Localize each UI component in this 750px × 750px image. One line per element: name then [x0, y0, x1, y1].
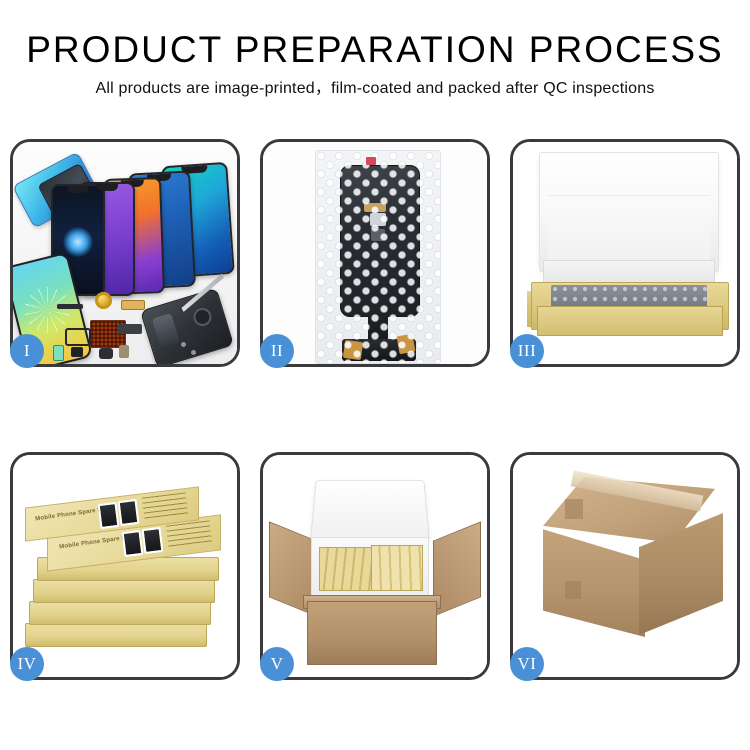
step-2-photo [263, 142, 487, 364]
stacked-box-5 [29, 601, 211, 625]
process-step-panel-1: I [10, 139, 240, 367]
step-badge-2: II [260, 334, 294, 368]
step-5-photo [263, 455, 487, 677]
box-phone-image-1b [118, 499, 140, 526]
tape-edge-icon-2 [565, 581, 581, 599]
process-step-panel-2: II [260, 139, 490, 367]
process-steps-grid: I II [10, 139, 740, 680]
earpiece-speaker-icon [57, 304, 83, 309]
screw-icon-1 [181, 342, 186, 347]
red-label-icon [366, 157, 376, 165]
step-badge-5: V [260, 647, 294, 681]
process-step-panel-6: VI [510, 452, 740, 680]
yellow-box-front-icon [537, 306, 723, 336]
stacked-box-4 [33, 579, 215, 603]
page-title: PRODUCT PREPARATION PROCESS [0, 28, 750, 72]
tape-edge-icon-1 [565, 499, 583, 519]
box-phone-image-1a [98, 502, 120, 529]
box-stack-icon: Mobile Phone Spare Parts Mobile Phone Sp… [19, 473, 237, 669]
bubble-texture-icon [316, 151, 440, 363]
step-badge-3: III [510, 334, 544, 368]
step-3-photo [513, 142, 737, 364]
small-part-icon-3 [119, 345, 129, 358]
bubble-wrap-bag-icon [315, 150, 441, 364]
flex-cable-icon-2 [121, 300, 145, 310]
screw-icon-2 [191, 350, 196, 355]
step-badge-6: VI [510, 647, 544, 681]
sim-tray-icon [53, 345, 64, 361]
vibration-coil-icon [95, 292, 112, 309]
small-part-icon-2 [99, 348, 113, 359]
page-header: PRODUCT PREPARATION PROCESS All products… [0, 28, 750, 100]
process-step-panel-4: Mobile Phone Spare Parts Mobile Phone Sp… [10, 452, 240, 680]
foam-lid-open-icon [310, 480, 430, 541]
flex-cable-icon-3 [118, 324, 142, 334]
box-phone-image-2a [122, 530, 144, 557]
foam-lid-icon [539, 152, 719, 272]
product-preparation-process-page: PRODUCT PREPARATION PROCESS All products… [0, 0, 750, 750]
stacked-box-6 [25, 623, 207, 647]
box-phone-image-2b [142, 527, 164, 554]
step-badge-4: IV [10, 647, 44, 681]
process-step-panel-3: III [510, 139, 740, 367]
step-6-photo [513, 455, 737, 677]
process-step-panel-5: V [260, 452, 490, 680]
flex-cable-icon-1 [65, 328, 91, 346]
step-badge-1: I [10, 334, 44, 368]
small-part-icon-1 [71, 347, 83, 357]
step-4-photo: Mobile Phone Spare Parts Mobile Phone Sp… [13, 455, 237, 677]
yellow-boxes-row-icon-2 [371, 545, 423, 591]
carton-body-icon [307, 601, 437, 665]
step-1-photo [13, 142, 237, 364]
page-subtitle: All products are image-printed，film-coat… [0, 78, 750, 100]
